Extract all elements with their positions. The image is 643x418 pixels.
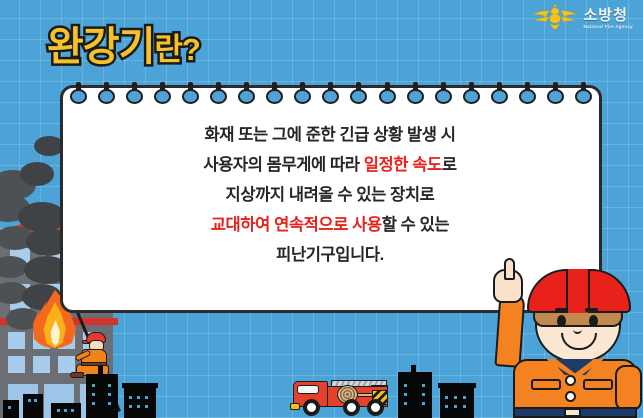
mascot-pocket xyxy=(531,379,561,390)
spiral-binding-ring-icon xyxy=(266,82,283,104)
truck-wheel xyxy=(303,399,320,416)
body-text-line: 교대하여 연속적으로 사용할 수 있는 xyxy=(90,210,570,240)
spiral-binding-ring-icon xyxy=(154,82,171,104)
body-text-line: 지상까지 내려올 수 있는 장치로 xyxy=(90,180,570,210)
mascot-eye xyxy=(557,315,566,327)
page-title-suffix: 란? xyxy=(154,32,199,67)
spiral-binding-ring-icon xyxy=(210,82,227,104)
spiral-binding-ring-icon xyxy=(294,82,311,104)
body-text-segment: 화재 또는 그에 준한 긴급 상황 발생 시 xyxy=(205,126,456,144)
body-text-line: 사용자의 몸무게에 따라 일정한 속도로 xyxy=(90,150,570,180)
spiral-binding-ring-icon xyxy=(70,82,87,104)
smoke-cloud xyxy=(20,162,54,186)
truck-window xyxy=(297,385,319,394)
skyline-antenna xyxy=(411,365,416,418)
spiral-binding-ring-icon xyxy=(407,82,424,104)
spiral-binding-ring-icon xyxy=(182,82,199,104)
body-text-segment: 할 수 있는 xyxy=(382,216,450,234)
agency-name-kr: 소방청 xyxy=(583,8,627,23)
spiral-binding xyxy=(60,82,602,108)
highlighted-phrase: 일정한 속도 xyxy=(364,156,442,174)
skyline-building xyxy=(23,394,43,418)
definition-body-text: 화재 또는 그에 준한 긴급 상황 발생 시사용자의 몸무게에 따라 일정한 속… xyxy=(90,120,570,270)
fire-truck-icon xyxy=(293,370,391,416)
skyline-building xyxy=(3,400,19,418)
mascot-belt-buckle xyxy=(564,408,581,417)
hose-nozzle xyxy=(357,393,373,397)
body-text-segment: 로 xyxy=(442,156,457,174)
body-text-segment: 사용자의 몸무게에 따라 xyxy=(203,156,363,174)
agency-logo-text: 소방청 National Fire Agency xyxy=(583,8,633,29)
mascot-eyebrow xyxy=(555,308,568,312)
body-text-line: 화재 또는 그에 준한 긴급 상황 발생 시 xyxy=(90,120,570,150)
infographic-canvas: 소방청 National Fire Agency 완강기란? xyxy=(0,0,643,418)
mascot-raised-arm xyxy=(494,292,525,368)
fire-agency-eagle-emblem-icon xyxy=(532,4,578,34)
mascot-eye xyxy=(589,315,598,327)
mascot-right-arm xyxy=(615,365,642,411)
spiral-binding-ring-icon xyxy=(238,82,255,104)
spiral-binding-ring-icon xyxy=(350,82,367,104)
mascot-pointing-finger xyxy=(504,258,515,280)
front-bumper xyxy=(290,403,300,410)
spiral-binding-ring-icon xyxy=(519,82,536,104)
body-text-segment: 피난기구입니다. xyxy=(276,246,384,264)
mascot-button xyxy=(565,391,576,402)
window xyxy=(8,332,25,349)
skyline-antenna xyxy=(98,366,103,418)
skyline-building xyxy=(51,403,81,418)
body-text-segment: 지상까지 내려올 수 있는 장치로 xyxy=(226,186,435,204)
mascot-button xyxy=(565,375,576,386)
mascot-pocket xyxy=(583,379,613,390)
spiral-binding-ring-icon xyxy=(491,82,508,104)
mascot-helmet-ridge xyxy=(566,269,590,313)
skyline-building xyxy=(440,388,474,418)
spiral-binding-ring-icon xyxy=(463,82,480,104)
truck-wheel xyxy=(367,399,384,416)
agency-name-en: National Fire Agency xyxy=(583,25,633,29)
highlighted-phrase: 교대하여 연속적으로 사용 xyxy=(211,216,382,234)
spiral-binding-ring-icon xyxy=(322,82,339,104)
firefighter-mascot-pointing-up-icon xyxy=(491,263,643,418)
mascot-hand xyxy=(493,269,523,303)
mascot-eyebrow xyxy=(585,308,598,312)
skyline-cap xyxy=(122,383,158,388)
skyline-building xyxy=(124,388,156,418)
spiral-binding-ring-icon xyxy=(575,82,592,104)
spiral-binding-ring-icon xyxy=(547,82,564,104)
truck-wheel xyxy=(343,399,360,416)
spiral-binding-ring-icon xyxy=(98,82,115,104)
spiral-binding-ring-icon xyxy=(379,82,396,104)
skyline-cap xyxy=(438,383,476,388)
page-title: 완강기란? xyxy=(47,27,200,67)
agency-logo: 소방청 National Fire Agency xyxy=(532,4,633,34)
spiral-binding-ring-icon xyxy=(435,82,452,104)
page-title-main: 완강기 xyxy=(47,25,154,69)
spiral-binding-ring-icon xyxy=(126,82,143,104)
